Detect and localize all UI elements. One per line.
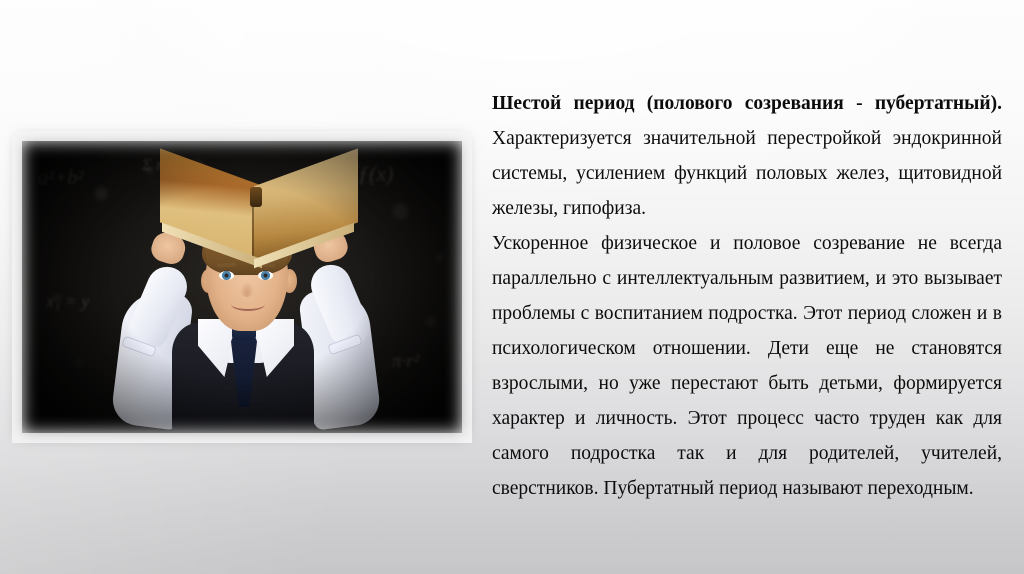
book-spine	[250, 187, 262, 207]
chalk-mark: a²+b²	[38, 167, 84, 190]
paragraph-one: Шестой период (полового созревания - пуб…	[492, 86, 1002, 226]
open-book	[160, 187, 358, 261]
paragraph-one-body: Характеризуется значительной перестройко…	[492, 128, 1002, 219]
photo-figure: a²+b² ∫ƒ(x) π·r² x₁ = y Σ n	[22, 141, 462, 433]
paragraph-heading: Шестой период (полового созревания - пуб…	[492, 93, 1002, 114]
body-text-block: Шестой период (полового созревания - пуб…	[492, 86, 1002, 506]
schoolboy-photo: a²+b² ∫ƒ(x) π·r² x₁ = y Σ n	[22, 141, 462, 433]
chalk-mark: π·r²	[392, 351, 419, 373]
eye-left	[219, 271, 234, 280]
eye-right	[258, 271, 273, 280]
chalk-mark: ∫ƒ(x)	[352, 161, 393, 187]
paragraph-two: Ускоренное физическое и половое созреван…	[492, 226, 1002, 506]
nose	[240, 281, 254, 297]
slide-canvas: a²+b² ∫ƒ(x) π·r² x₁ = y Σ n	[0, 0, 1024, 574]
chalk-mark: x₁ = y	[46, 291, 89, 312]
